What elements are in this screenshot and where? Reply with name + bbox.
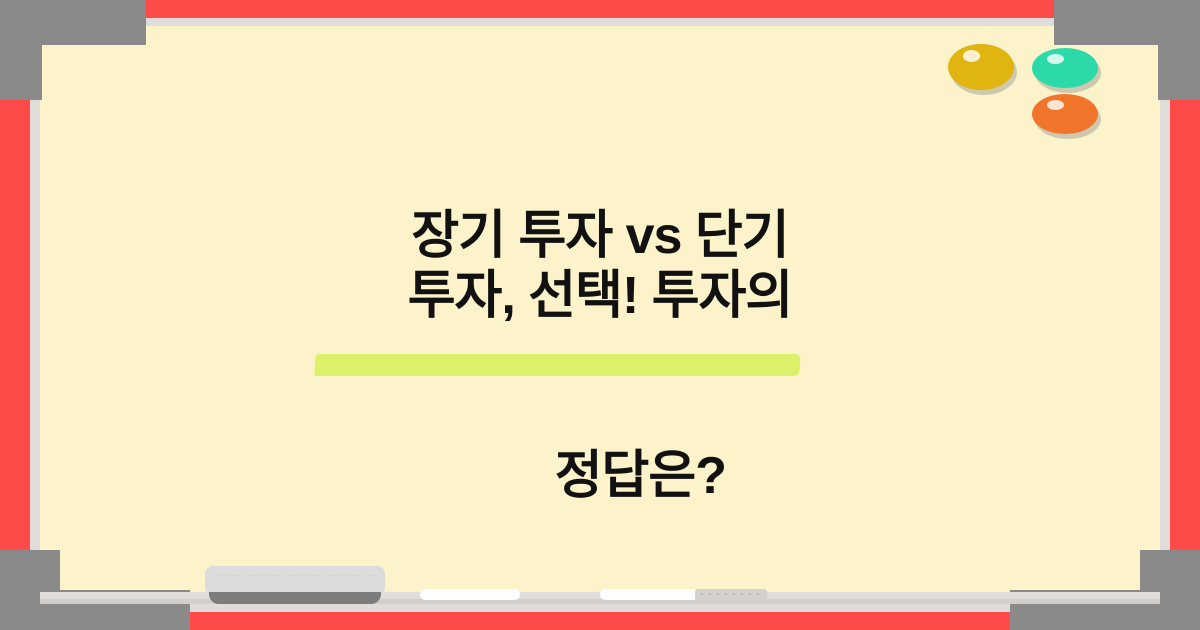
headline-highlight-marker [314,354,801,376]
magnet-orange-icon [1032,94,1098,134]
magnet-yellow-icon [948,44,1014,90]
magnet-gloss [1047,100,1064,110]
headline-title: 장기 투자 vs 단기 투자, 선택! 투자의 정답은? [40,206,1160,566]
headline-line-1: 장기 투자 vs 단기 [40,206,1160,266]
thumbnail-canvas: 장기 투자 vs 단기 투자, 선택! 투자의 정답은? [0,0,1200,630]
magnet-gloss [1047,54,1064,64]
headline-line-2: 투자, 선택! 투자의 [40,266,1160,326]
headline-line-3-wrapper: 정답은? [40,326,1160,566]
white-marker-icon-2 [600,589,698,600]
magnet-gloss [963,50,980,62]
corner-bracket-top-right-leg [1158,0,1200,100]
headline-line-3: 정답은? [555,447,726,505]
white-marker-icon-1 [420,589,520,600]
corner-bracket-top-left-leg [0,0,42,100]
whiteboard-eraser-icon [205,566,385,604]
eraser-body [205,566,385,592]
magnet-teal-icon [1032,48,1098,88]
marker-cap-icon [695,589,767,600]
